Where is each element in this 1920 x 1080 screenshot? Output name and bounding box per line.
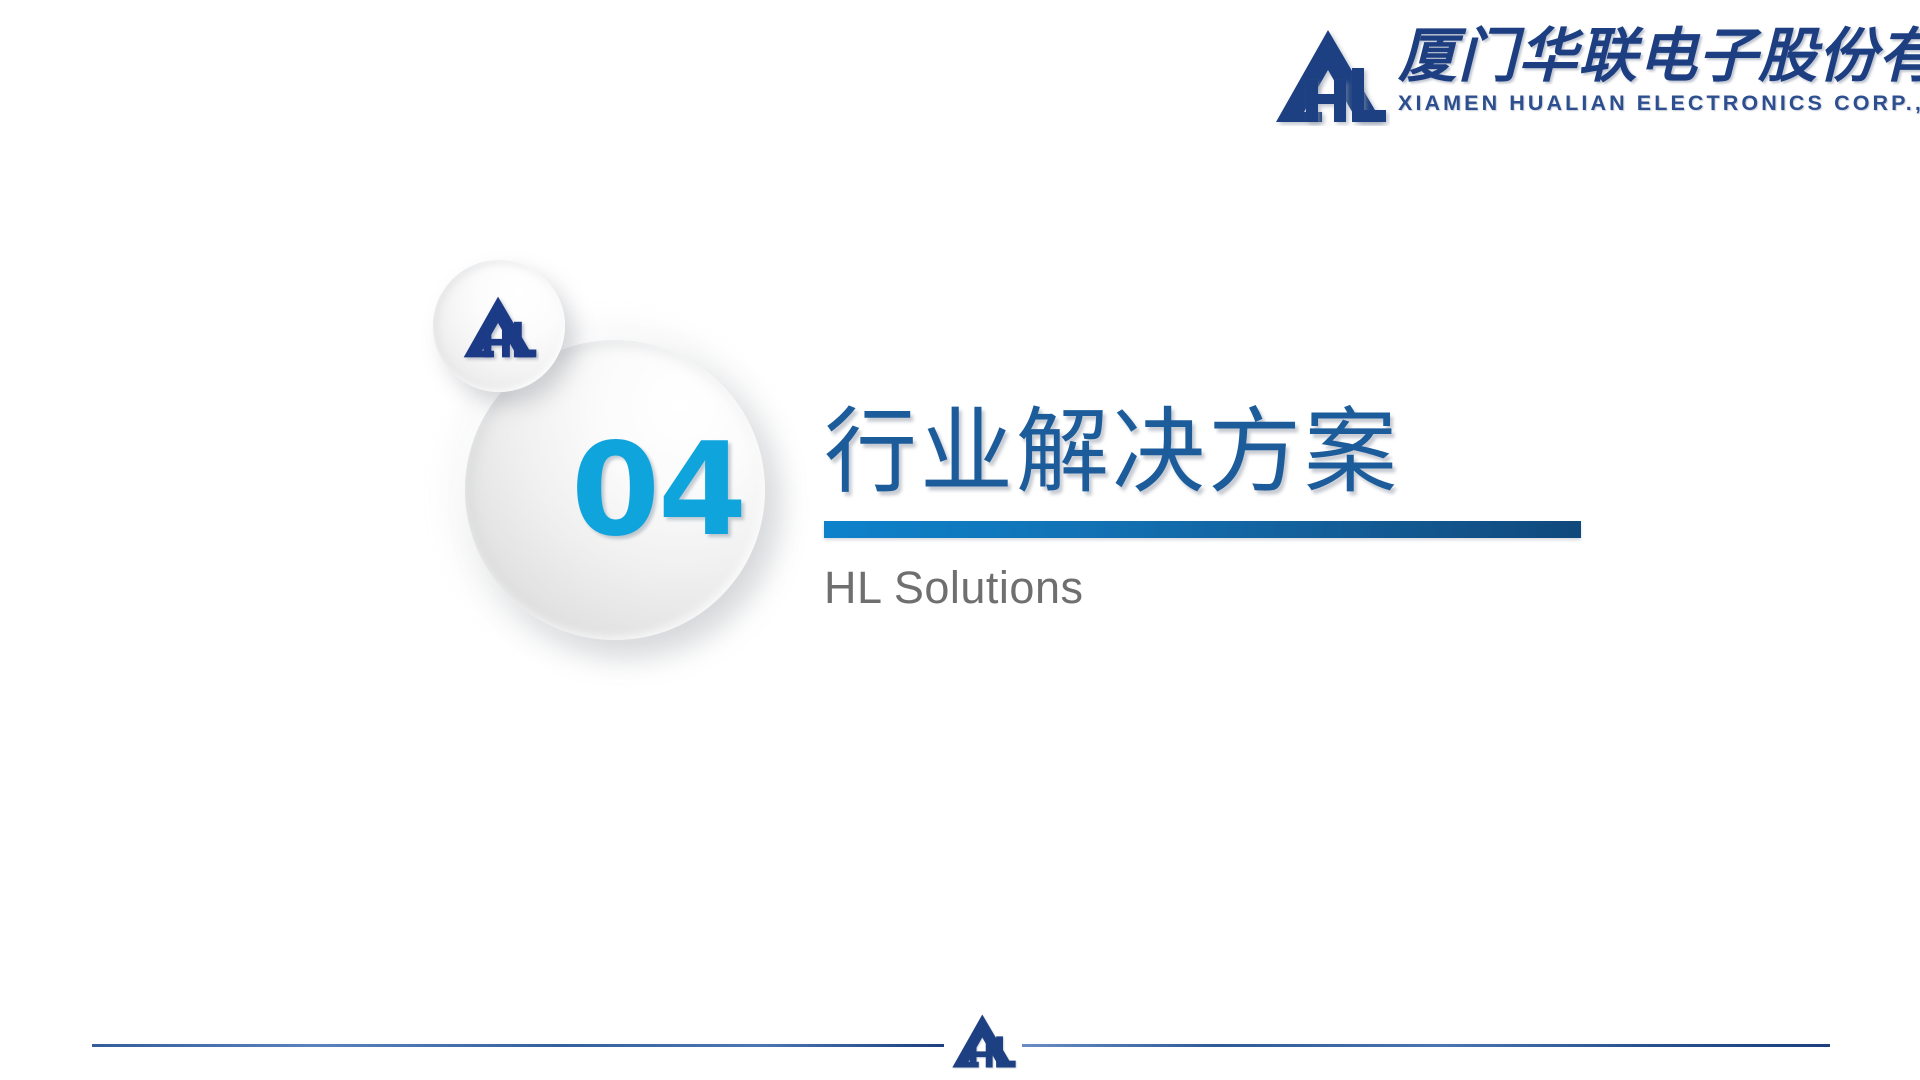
footer-rule-right [1022,1044,1830,1047]
company-name-cn: 厦门华联电子股份有限公司 [1398,22,1920,90]
corporate-logo-text: 厦门华联电子股份有限公司 XIAMEN HUALIAN ELECTRONICS … [1398,22,1920,115]
logo-badge-circle [433,260,565,392]
hl-monogram-icon [1272,26,1390,126]
company-name-en: XIAMEN HUALIAN ELECTRONICS CORP., LTD. [1398,92,1920,116]
slide-canvas: 厦门华联电子股份有限公司 XIAMEN HUALIAN ELECTRONICS … [0,0,1920,1080]
section-title: 行业解决方案 [824,406,1581,499]
section-subtitle: HL Solutions [824,562,1581,614]
corporate-logo: 厦门华联电子股份有限公司 XIAMEN HUALIAN ELECTRONICS … [1272,22,1912,132]
hl-monogram-icon [950,1010,1018,1072]
title-accent-bar [824,521,1581,538]
section-title-block: 行业解决方案 HL Solutions [824,406,1581,614]
footer-rule-left [92,1044,944,1047]
hl-monogram-icon [461,292,539,362]
